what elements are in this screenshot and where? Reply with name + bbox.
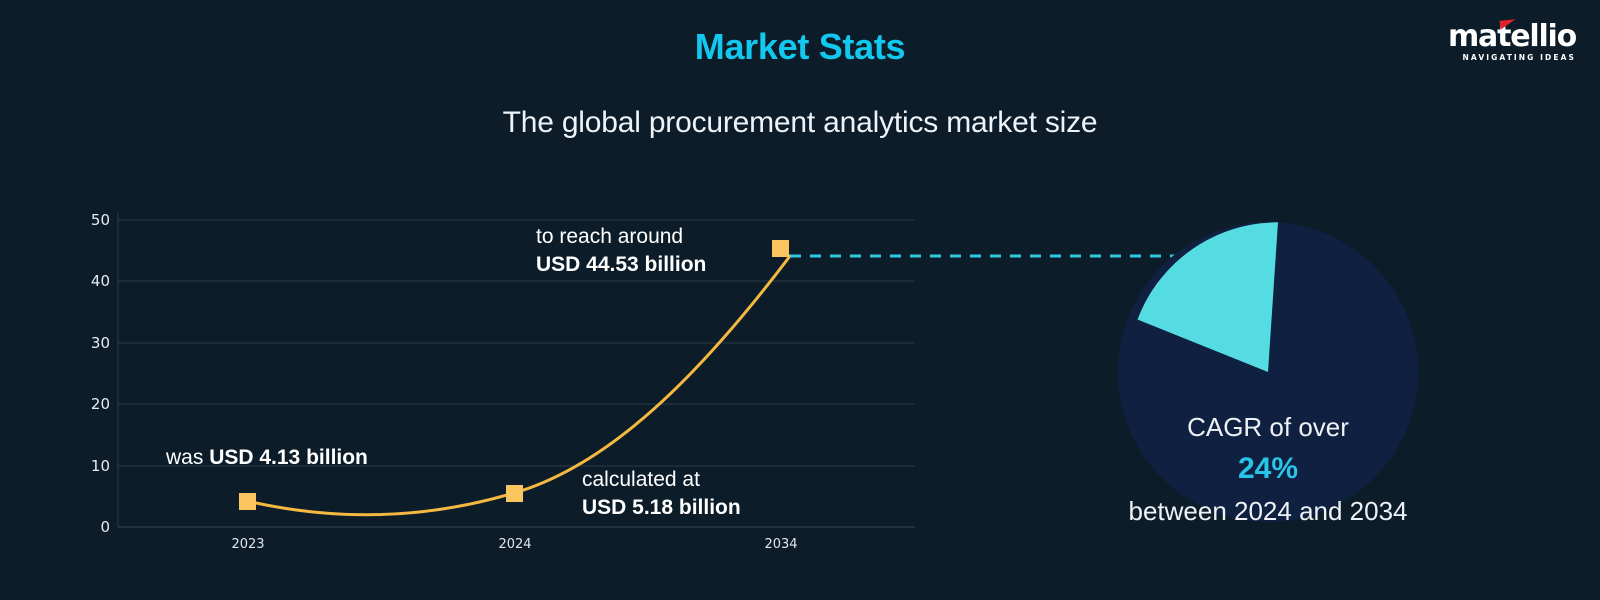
pie-text-line1: CAGR of over xyxy=(1050,406,1486,448)
line-chart: 50 40 30 20 10 0 2023 2024 2034 was USD … xyxy=(0,0,1000,600)
annotation-2023: was USD 4.13 billion xyxy=(166,444,368,472)
y-tick-30: 30 xyxy=(70,334,110,352)
annotation-2034-line2: USD 44.53 billion xyxy=(536,253,706,276)
data-point-2024[interactable] xyxy=(506,485,523,502)
pie-text-line2: between 2024 and 2034 xyxy=(1050,490,1486,532)
y-tick-20: 20 xyxy=(70,395,110,413)
pie-center-text: CAGR of over 24% between 2024 and 2034 xyxy=(1050,406,1486,532)
y-tick-0: 0 xyxy=(70,518,110,536)
data-point-2034[interactable] xyxy=(772,240,789,257)
x-tick-2034: 2034 xyxy=(736,537,826,552)
annotation-2024-line1: calculated at xyxy=(582,466,741,494)
annotation-2023-prefix: was xyxy=(166,446,209,469)
logo-accent-icon xyxy=(1500,19,1517,30)
annotation-2024-line2: USD 5.18 billion xyxy=(582,496,741,519)
annotation-2034-line1: to reach around xyxy=(536,223,706,251)
x-tick-2023: 2023 xyxy=(203,537,293,552)
logo-tagline: NAVIGATING IDEAS xyxy=(1448,52,1576,63)
y-tick-50: 50 xyxy=(70,211,110,229)
infographic-canvas: Market Stats The global procurement anal… xyxy=(0,0,1600,600)
annotation-2023-value: USD 4.13 billion xyxy=(209,446,368,469)
line-chart-svg xyxy=(0,0,1000,600)
annotation-2034: to reach around USD 44.53 billion xyxy=(536,223,706,279)
y-tick-10: 10 xyxy=(70,457,110,475)
annotation-2024: calculated at USD 5.18 billion xyxy=(582,466,741,522)
pie-text-percent: 24% xyxy=(1050,448,1486,490)
matellio-logo: matellio NAVIGATING IDEAS xyxy=(1448,22,1576,70)
data-point-2023[interactable] xyxy=(239,493,256,510)
y-tick-40: 40 xyxy=(70,272,110,290)
x-tick-2024: 2024 xyxy=(470,537,560,552)
